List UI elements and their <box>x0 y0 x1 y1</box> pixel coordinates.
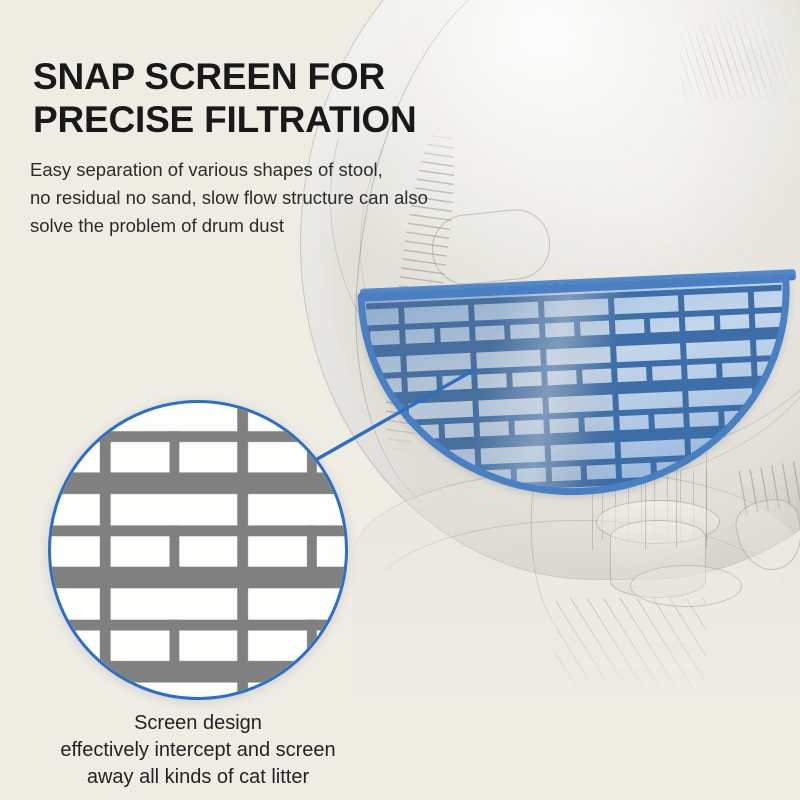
drum-inner-rake <box>556 598 706 708</box>
feature-description: Easy separation of various shapes of sto… <box>30 156 460 240</box>
headline-line-2: PRECISE FILTRATION <box>33 98 493 141</box>
subcopy-line-3: solve the problem of drum dust <box>30 212 460 240</box>
magnifier-caption: Screen design effectively intercept and … <box>28 710 368 792</box>
subcopy-line-1: Easy separation of various shapes of sto… <box>30 156 460 184</box>
caption-line-1: Screen design <box>28 710 368 737</box>
headline-line-1: SNAP SCREEN FOR <box>33 55 493 98</box>
screen-detail-magnifier[interactable] <box>48 400 348 700</box>
caption-line-2: effectively intercept and screen <box>28 737 368 764</box>
product-feature-banner: SNAP SCREEN FOR PRECISE FILTRATION Easy … <box>0 0 800 800</box>
drum-top-highlight <box>680 10 800 100</box>
drum-hub-base <box>630 565 742 607</box>
snap-screen-panel[interactable] <box>357 273 798 504</box>
page-title: SNAP SCREEN FOR PRECISE FILTRATION <box>33 55 493 142</box>
magnifier-grid-pattern <box>48 400 348 700</box>
caption-line-3: away all kinds of cat litter <box>28 764 368 791</box>
subcopy-line-2: no residual no sand, slow flow structure… <box>30 184 460 212</box>
